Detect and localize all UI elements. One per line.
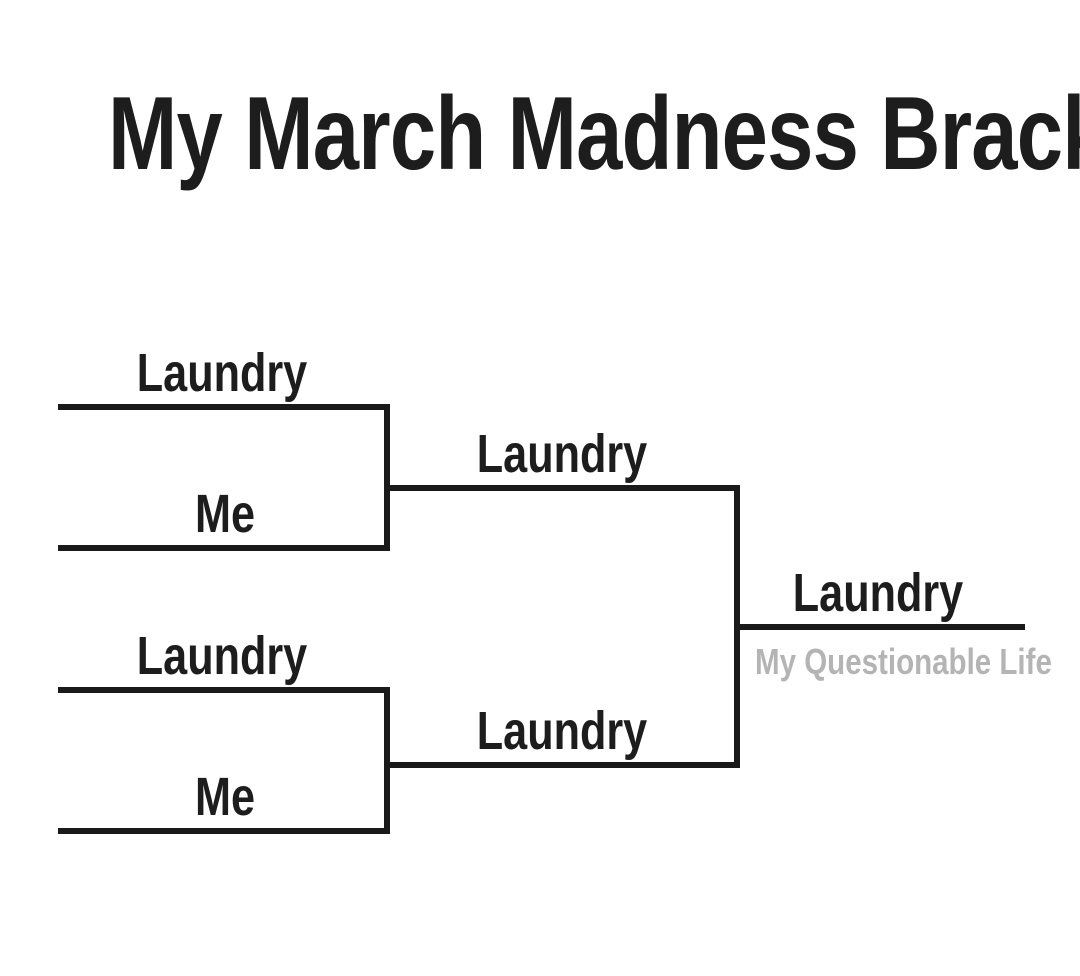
round1-top-connector (384, 404, 390, 551)
round1-slot4-line (58, 828, 390, 834)
round1-slot3-line (58, 687, 390, 693)
watermark-credit: My Questionable Life (755, 644, 1001, 680)
round1-slot4-label: Me (105, 770, 345, 824)
round2-slot1-label: Laundry (442, 427, 682, 481)
champion-label: Laundry (758, 566, 998, 620)
round2-slot1-line (384, 485, 740, 491)
round1-slot3-label: Laundry (102, 629, 342, 683)
round1-bottom-connector (384, 687, 390, 834)
meme-image: My March Madness Bracket Laundry Me Laun… (0, 0, 1080, 976)
final-line (734, 624, 1025, 630)
round1-slot1-label: Laundry (102, 346, 342, 400)
round2-slot2-label: Laundry (442, 704, 682, 758)
round2-slot2-line (384, 762, 740, 768)
round1-slot2-label: Me (105, 487, 345, 541)
round1-slot1-line (58, 404, 390, 410)
round1-slot2-line (58, 545, 390, 551)
page-title: My March Madness Bracket (108, 82, 972, 186)
